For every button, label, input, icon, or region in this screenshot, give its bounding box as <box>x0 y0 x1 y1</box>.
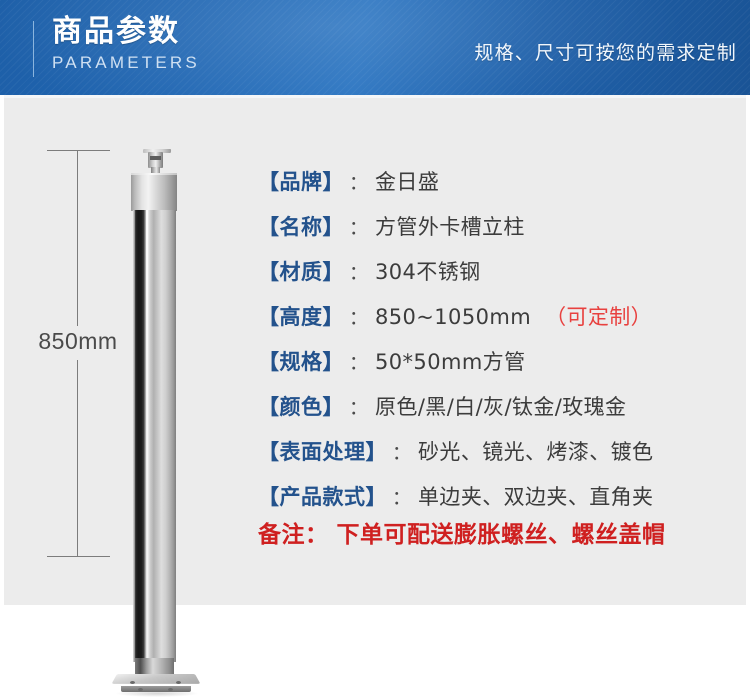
clamp-body <box>148 152 163 168</box>
spec-colon: ： <box>344 213 375 240</box>
spec-row: 【表面处理】 ： 砂光、镜光、烤漆、镀色 <box>258 436 738 481</box>
remark-row: 备注： 下单可配送膨胀螺丝、螺丝盖帽 <box>258 515 666 549</box>
base-plate-top <box>112 674 201 684</box>
spec-row: 【规格】 ： 50*50mm方管 <box>258 346 738 391</box>
base-bolt-hole <box>168 688 173 691</box>
spec-colon: ： <box>387 438 418 465</box>
spec-value: 50*50mm方管 <box>375 346 525 376</box>
spec-row: 【颜色】 ： 原色/黑/白/灰/钛金/玫瑰金 <box>258 391 738 436</box>
header-divider-line <box>33 21 34 77</box>
spec-value: 原色/黑/白/灰/钛金/玫瑰金 <box>375 391 626 421</box>
post-head <box>131 175 177 211</box>
spec-colon: ： <box>387 483 418 510</box>
spec-label: 【规格】 <box>258 346 344 376</box>
base-plate-side <box>121 686 191 692</box>
post-edge-highlight <box>146 210 148 662</box>
page-title: 商品参数 <box>52 14 200 50</box>
spec-label: 【颜色】 <box>258 391 344 421</box>
spec-value: 单边夹、双边夹、直角夹 <box>418 481 653 511</box>
clamp-slot <box>150 156 161 160</box>
spec-row: 【名称】 ： 方管外卡槽立柱 <box>258 211 738 256</box>
spec-row: 【材质】 ： 304不锈钢 <box>258 256 738 301</box>
spec-colon: ： <box>344 303 375 330</box>
spec-colon: ： <box>344 393 375 420</box>
panel-top-hairline <box>4 95 746 98</box>
spec-label: 【产品款式】 <box>258 481 387 511</box>
spec-value: 砂光、镜光、烤漆、镀色 <box>418 436 653 466</box>
spec-label: 【名称】 <box>258 211 344 241</box>
product-post-image <box>110 140 210 570</box>
spec-row: 【高度】 ： 850~1050mm （可定制） <box>258 301 738 346</box>
spec-label: 【高度】 <box>258 301 344 331</box>
base-bolt-hole <box>176 681 181 684</box>
spec-value: 850~1050mm <box>375 305 531 329</box>
spec-colon: ： <box>344 168 375 195</box>
remark-text: 下单可配送膨胀螺丝、螺丝盖帽 <box>329 515 666 549</box>
spec-row: 【品牌】 ： 金日盛 <box>258 166 738 211</box>
spec-value: 金日盛 <box>375 166 439 196</box>
spec-colon: ： <box>344 348 375 375</box>
product-parameters-page: 商品参数 PARAMETERS 规格、尺寸可按您的需求定制 850mm <box>0 0 750 621</box>
header-tagline: 规格、尺寸可按您的需求定制 <box>474 38 737 65</box>
spec-label: 【材质】 <box>258 256 344 286</box>
header-banner: 商品参数 PARAMETERS 规格、尺寸可按您的需求定制 <box>0 0 750 95</box>
spec-value: 方管外卡槽立柱 <box>375 211 525 241</box>
specification-list: 【品牌】 ： 金日盛 【名称】 ： 方管外卡槽立柱 【材质】 ： 304不锈钢 … <box>258 166 738 526</box>
spec-extra: （可定制） <box>531 301 652 331</box>
spec-value: 304不锈钢 <box>375 256 480 286</box>
spec-label: 【品牌】 <box>258 166 344 196</box>
remark-label: 备注： <box>258 515 329 549</box>
spec-label: 【表面处理】 <box>258 436 387 466</box>
page-subtitle: PARAMETERS <box>52 52 200 74</box>
post-column <box>133 210 176 662</box>
spec-colon: ： <box>344 258 375 285</box>
base-bolt-hole <box>138 688 143 691</box>
header-title-block: 商品参数 PARAMETERS <box>52 14 200 74</box>
base-bolt-hole <box>130 681 135 684</box>
